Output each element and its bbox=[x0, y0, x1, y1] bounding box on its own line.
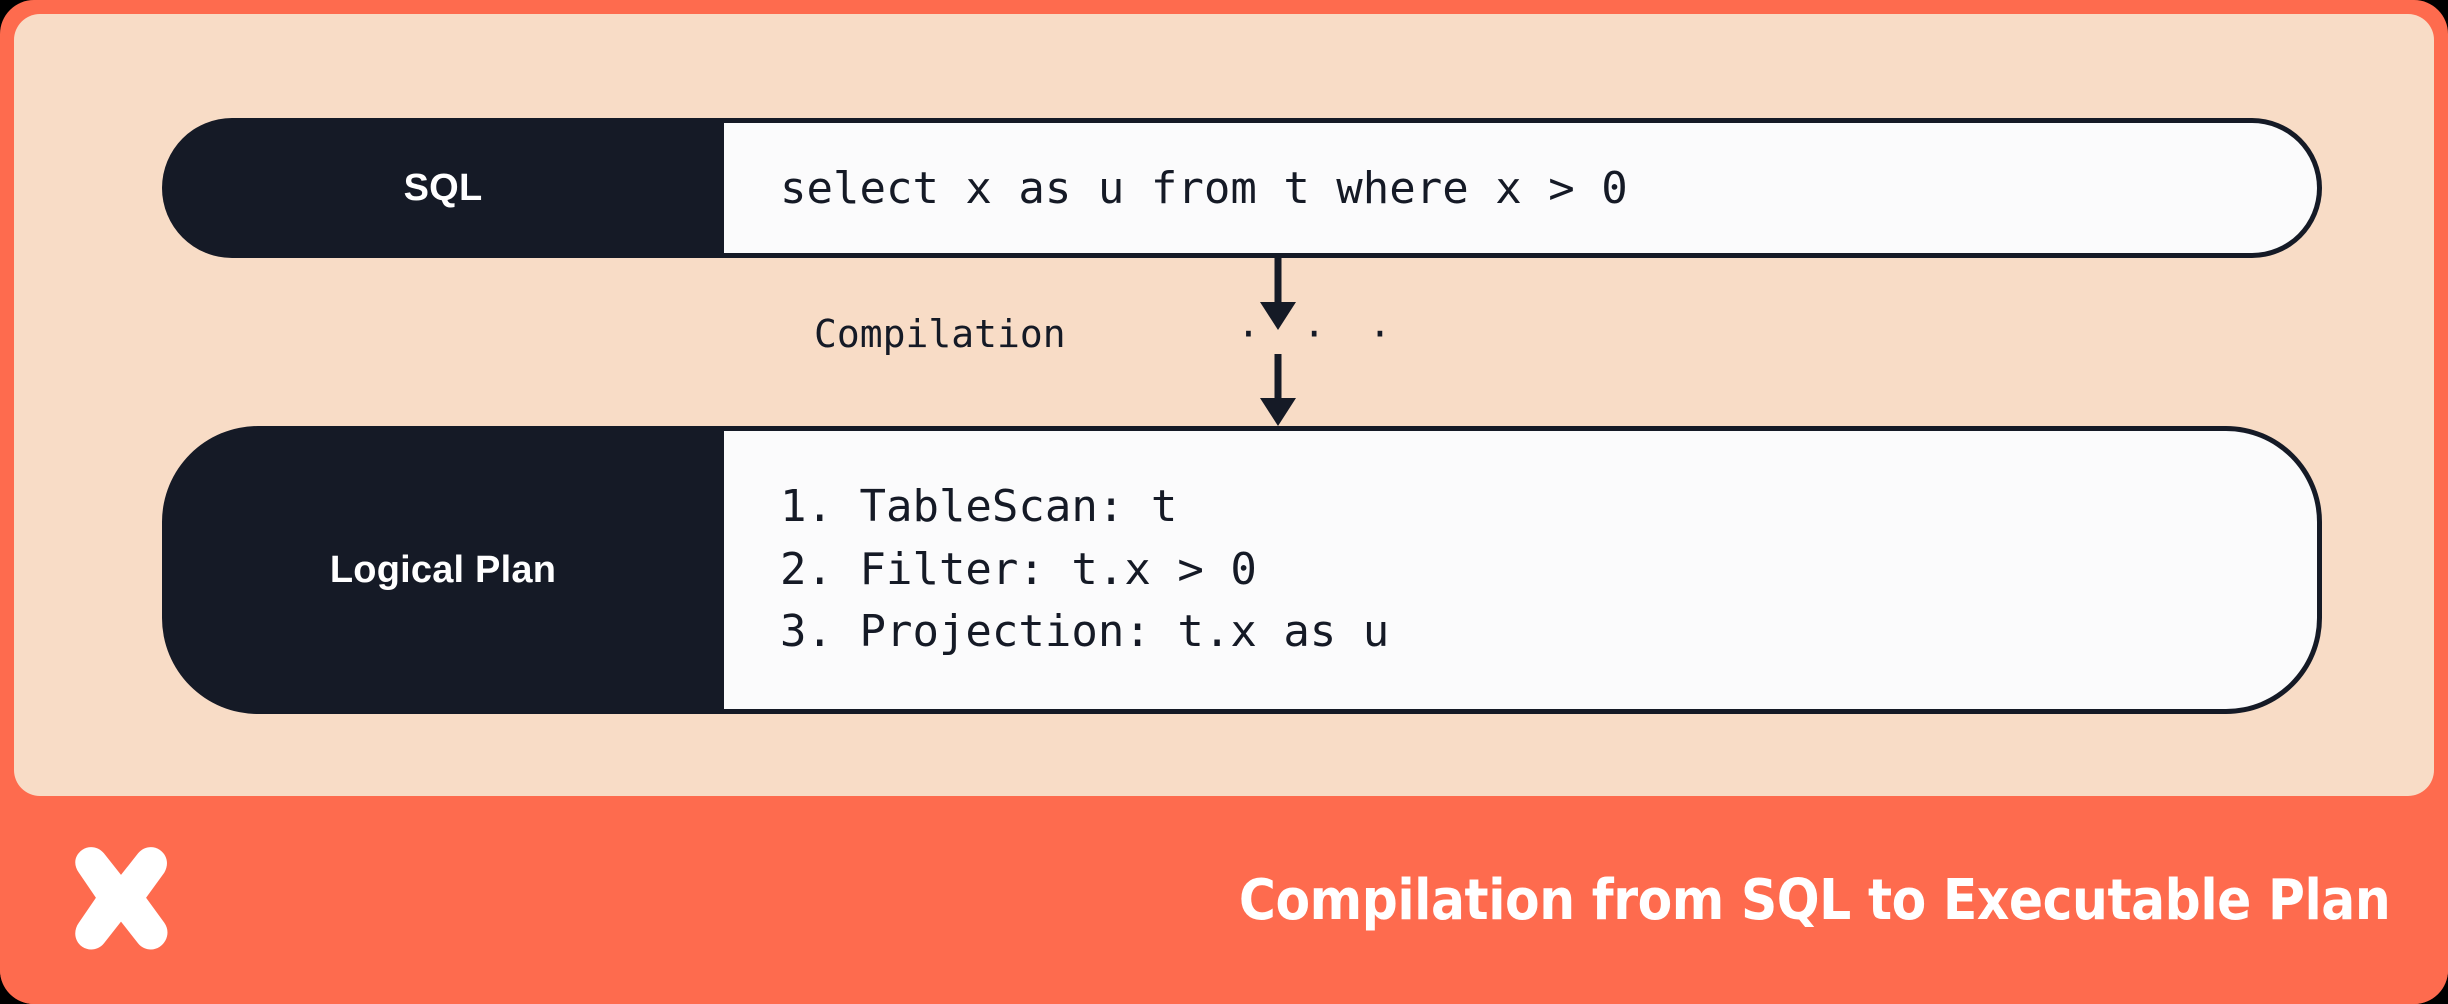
footer-title: Compilation from SQL to Executable Plan bbox=[1239, 868, 2390, 933]
compilation-connector: Compilation · · · bbox=[162, 258, 2322, 426]
compilation-label: Compilation bbox=[814, 312, 1066, 356]
sql-code-panel: select x as u from t where x > 0 bbox=[724, 118, 2322, 258]
sql-code-text: select x as u from t where x > 0 bbox=[780, 163, 2261, 214]
plan-step: 3. Projection: t.x as u bbox=[780, 601, 2261, 663]
sql-row: SQL select x as u from t where x > 0 bbox=[162, 118, 2322, 258]
footer-bar: Compilation from SQL to Executable Plan bbox=[0, 796, 2448, 1004]
plan-step: 2. Filter: t.x > 0 bbox=[780, 539, 2261, 601]
logical-plan-row: Logical Plan 1. TableScan: t 2. Filter: … bbox=[162, 426, 2322, 714]
diagram-frame: SQL select x as u from t where x > 0 Com… bbox=[0, 0, 2448, 1004]
sql-row-label: SQL bbox=[162, 118, 724, 258]
x-star-logo-icon bbox=[64, 843, 178, 957]
logical-plan-panel: 1. TableScan: t 2. Filter: t.x > 0 3. Pr… bbox=[724, 426, 2322, 714]
content-panel: SQL select x as u from t where x > 0 Com… bbox=[14, 14, 2434, 796]
arrow-down-icon bbox=[1246, 258, 1310, 330]
plan-step: 1. TableScan: t bbox=[780, 476, 2261, 538]
arrow-down-icon bbox=[1246, 354, 1310, 426]
logical-plan-row-label: Logical Plan bbox=[162, 426, 724, 714]
